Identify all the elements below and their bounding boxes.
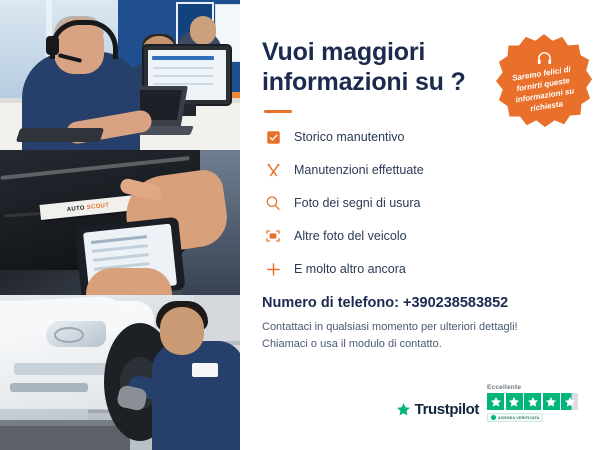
- list-item-label: Manutenzioni effettuate: [294, 163, 424, 177]
- list-item: Foto dei segni di usura: [262, 193, 574, 213]
- vehicle-lift-platform: [0, 420, 130, 450]
- uniform-logo: [192, 363, 218, 377]
- car-headlight: [46, 321, 106, 347]
- list-item-label: E molto altro ancora: [294, 262, 406, 276]
- plus-icon: [262, 259, 284, 279]
- trustpilot-star-rating: [487, 393, 578, 410]
- title-divider: [264, 110, 292, 113]
- list-item: Storico manutentivo: [262, 127, 574, 147]
- mechanic-head: [160, 307, 204, 355]
- desk-keyboard: [16, 128, 105, 142]
- star-icon-partial: [561, 393, 578, 410]
- list-item: E molto altro ancora: [262, 259, 574, 279]
- list-item: Altre foto del veicolo: [262, 226, 574, 246]
- trustpilot-rating-block: Eccellente AZIENDA VERIFICATA: [487, 384, 578, 422]
- list-item-label: Foto dei segni di usura: [294, 196, 420, 210]
- content-panel: Vuoi maggiori informazioni su ? Storico …: [240, 0, 600, 450]
- vehicle-inspection-photo: AUTO SCOUT: [0, 150, 240, 295]
- call-center-agents-photo: [0, 0, 240, 150]
- callout-badge: Saremo felici di fornirti queste informa…: [496, 34, 592, 130]
- photo-column: AUTO SCOUT: [0, 0, 240, 450]
- checkbox-icon: [262, 127, 284, 147]
- camera-focus-icon: [262, 226, 284, 246]
- background-agent-3-head: [190, 16, 216, 45]
- headset-earcup: [46, 36, 59, 55]
- mechanic-wheel-photo: [0, 295, 240, 450]
- magnifier-icon: [262, 193, 284, 213]
- trustpilot-rating-label: Eccellente: [487, 384, 521, 391]
- verified-check-icon: [491, 415, 496, 420]
- trustpilot-verified-badge: AZIENDA VERIFICATA: [487, 413, 543, 422]
- page-title: Vuoi maggiori informazioni su ?: [262, 38, 472, 97]
- tools-cross-icon: [262, 160, 284, 180]
- list-item-label: Storico manutentivo: [294, 130, 404, 144]
- star-icon: [506, 393, 523, 410]
- contact-instructions-line-1: Contattaci in qualsiasi momento per ulte…: [262, 319, 574, 336]
- phone-number-line[interactable]: Numero di telefono: +390238583852: [262, 295, 574, 311]
- star-icon: [487, 393, 504, 410]
- feature-list: Storico manutentivo Manutenzioni effettu…: [262, 127, 574, 279]
- star-icon: [543, 393, 560, 410]
- car-grille-upper: [14, 363, 110, 375]
- promo-banner: AUTO SCOUT V: [0, 0, 600, 450]
- contact-instructions-line-2: Chiamaci o usa il modulo di contatto.: [262, 336, 574, 353]
- trustpilot-widget[interactable]: Trustpilot Eccellente AZIENDA VERIFICATA: [396, 384, 578, 422]
- verified-label: AZIENDA VERIFICATA: [498, 416, 539, 420]
- trustpilot-wordmark: Trustpilot: [415, 401, 479, 418]
- technician-hand-holding-tablet: [86, 268, 172, 295]
- list-item-label: Altre foto del veicolo: [294, 229, 407, 243]
- trustpilot-logo: Trustpilot: [396, 401, 479, 422]
- contact-instructions: Contattaci in qualsiasi momento per ulte…: [262, 319, 574, 352]
- star-icon: [524, 393, 541, 410]
- list-item: Manutenzioni effettuate: [262, 160, 574, 180]
- car-grille-lower: [10, 383, 88, 392]
- trustpilot-star-icon: [396, 402, 411, 417]
